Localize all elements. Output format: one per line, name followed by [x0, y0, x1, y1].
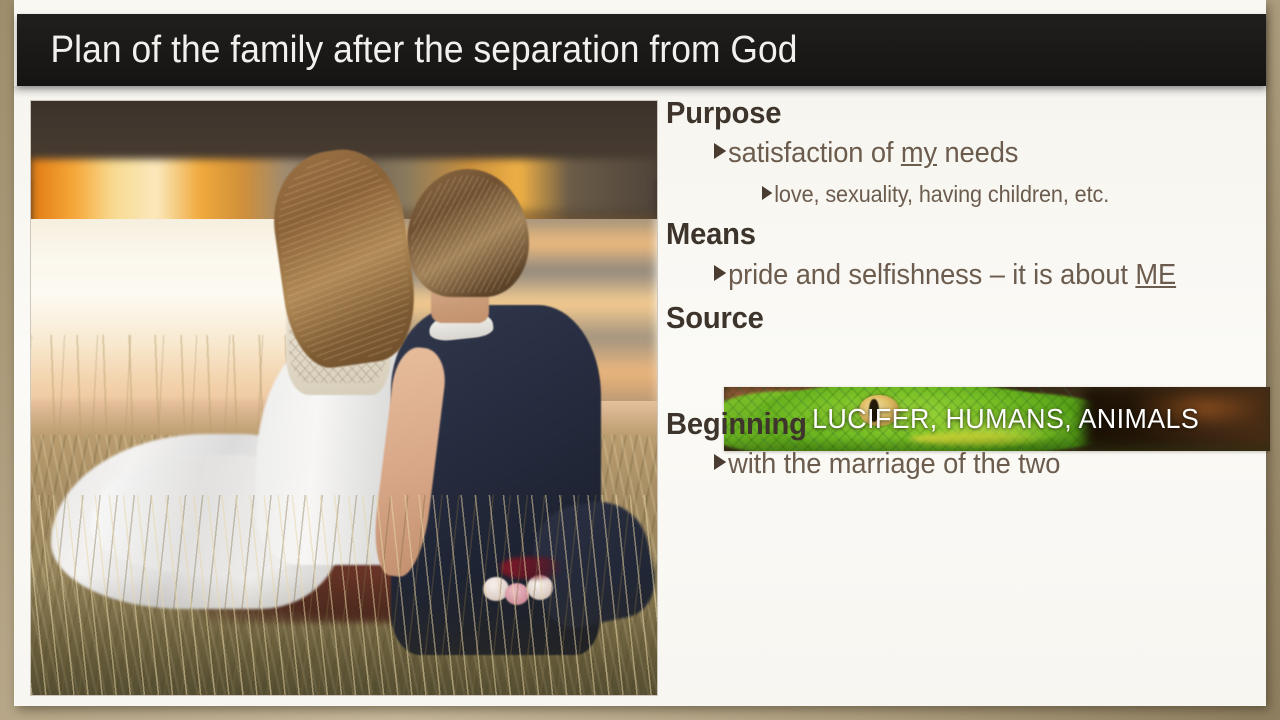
- slide-title: Plan of the family after the separation …: [17, 29, 797, 72]
- bullet-with-the-marriage-of-the-two: with the marriage of the two: [714, 448, 1225, 482]
- bullet-love-sexuality-children: love, sexuality, having children, etc.: [762, 181, 1228, 208]
- bullet-text: pride and selfishness – it is about ME: [728, 259, 1176, 293]
- bullet-text: with the marriage of the two: [728, 448, 1060, 482]
- bullet-satisfaction-of-my-needs: satisfaction of my needs: [714, 137, 1225, 171]
- slide-title-bar: Plan of the family after the separation …: [17, 14, 1266, 86]
- slide: Plan of the family after the separation …: [14, 0, 1266, 706]
- wedding-couple-photo: [31, 101, 657, 695]
- spacer: [666, 129, 1258, 137]
- bullet-pride-and-selfishness: pride and selfishness – it is about ME: [714, 259, 1225, 293]
- triangle-bullet-icon: [714, 143, 726, 159]
- presentation-background: Plan of the family after the separation …: [0, 0, 1280, 720]
- bullet-text: love, sexuality, having children, etc.: [774, 181, 1109, 208]
- triangle-bullet-icon: [714, 265, 726, 281]
- triangle-bullet-icon: [762, 186, 772, 200]
- bullet-text: satisfaction of my needs: [728, 137, 1018, 171]
- photo-grass-shadow: [31, 575, 657, 695]
- section-heading-beginning: Beginning: [666, 407, 1222, 440]
- spacer: [666, 251, 1258, 259]
- section-heading-source: Source: [666, 301, 1222, 334]
- section-heading-means: Means: [666, 217, 1222, 250]
- spacer: [666, 171, 1258, 181]
- slide-content-column: Purpose satisfaction of my needs love, s…: [666, 96, 1258, 676]
- triangle-bullet-icon: [714, 454, 726, 470]
- section-heading-purpose: Purpose: [666, 96, 1222, 129]
